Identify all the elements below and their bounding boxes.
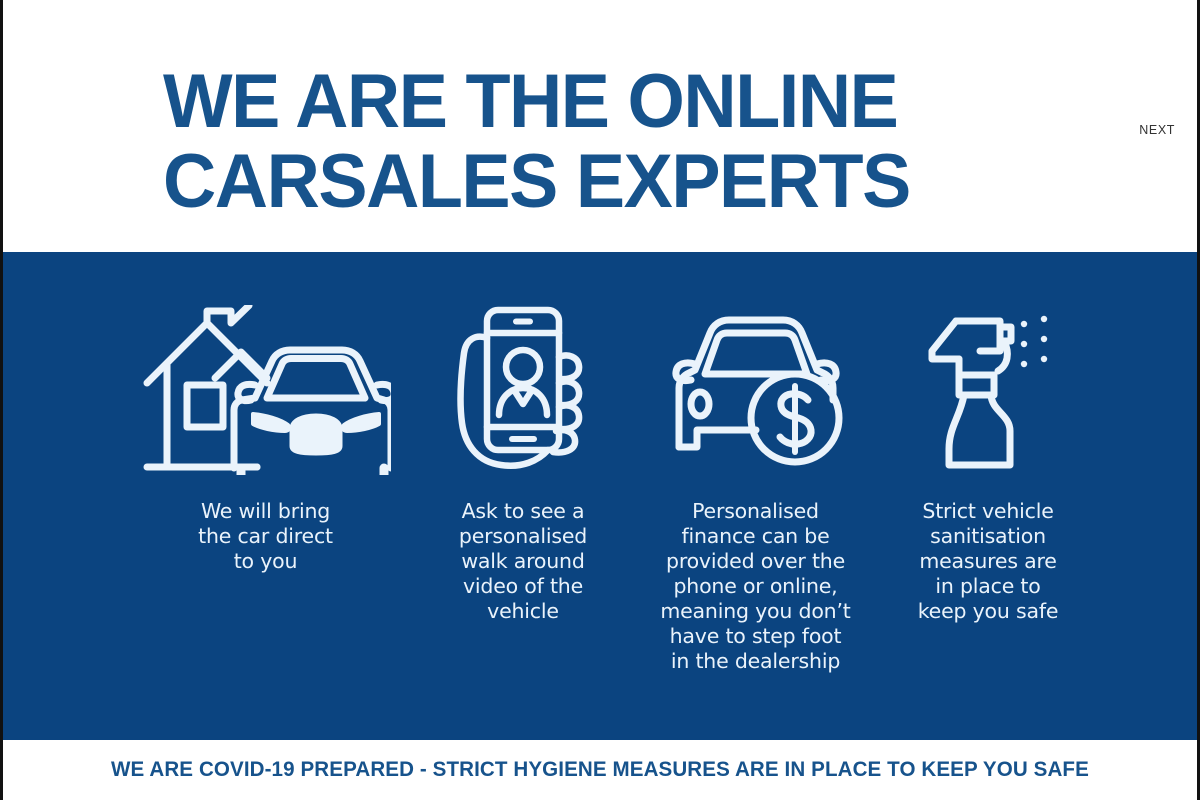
features-section: We will bring the car direct to you	[3, 252, 1197, 740]
next-button[interactable]: NEXT	[1139, 123, 1175, 137]
footer-section: WE ARE COVID-19 PREPARED - STRICT HYGIEN…	[3, 740, 1197, 800]
promo-poster: WE ARE THE ONLINE CARSALES EXPERTS NEXT	[0, 0, 1200, 800]
house-with-car-icon	[141, 302, 391, 477]
feature-caption: We will bring the car direct to you	[198, 499, 333, 574]
feature-item-sanitisation: Strict vehicle sanitisation measures are…	[893, 302, 1083, 624]
spray-bottle-icon	[918, 302, 1058, 477]
covid-banner-text: WE ARE COVID-19 PREPARED - STRICT HYGIEN…	[111, 758, 1089, 782]
feature-caption: Strict vehicle sanitisation measures are…	[918, 499, 1059, 624]
hand-holding-phone-icon	[456, 302, 591, 477]
feature-caption: Ask to see a personalised walk around vi…	[459, 499, 587, 624]
feature-item-finance: Personalised finance can be provided ove…	[648, 302, 863, 674]
feature-item-video-walkaround: Ask to see a personalised walk around vi…	[428, 302, 618, 624]
header-section: WE ARE THE ONLINE CARSALES EXPERTS NEXT	[3, 0, 1197, 252]
feature-item-home-delivery: We will bring the car direct to you	[133, 302, 398, 574]
feature-caption: Personalised finance can be provided ove…	[660, 499, 850, 674]
page-title: WE ARE THE ONLINE CARSALES EXPERTS	[163, 62, 1075, 222]
features-row: We will bring the car direct to you	[133, 302, 1083, 674]
car-with-dollar-coin-icon	[661, 302, 851, 477]
